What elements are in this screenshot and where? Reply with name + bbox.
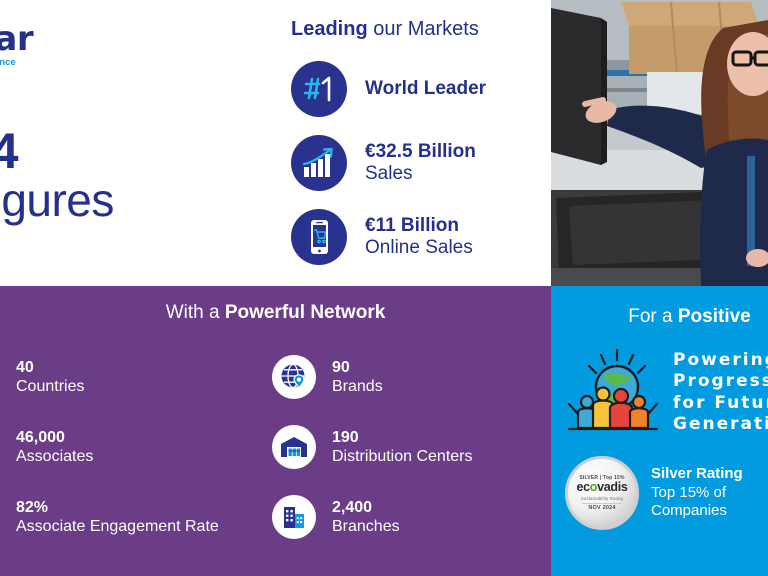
title-year: 24 <box>0 126 224 176</box>
list-item-label: Distribution Centers <box>332 447 473 466</box>
page-title: 24 Figures <box>0 126 224 224</box>
impact-heading-bold: Positive <box>678 306 751 327</box>
medal-brand-o: o <box>590 480 597 494</box>
impact-slogan-line: Progress <box>673 371 768 392</box>
impact-rating-text: Silver Rating Top 15% of Companies <box>651 465 743 521</box>
logo-tagline: d by Difference <box>0 58 148 68</box>
ecovadis-medal-icon: SILVER | Top 15% ecovadis Sustainability… <box>565 456 639 530</box>
rating-subtitle-line2: Companies <box>651 502 743 521</box>
impact-heading-rest: For a <box>628 306 678 327</box>
markets-section: Leading our Markets <box>291 18 541 283</box>
stat-label: Sales <box>365 163 476 185</box>
impact-slogan-line: for Future <box>673 393 768 414</box>
list-item: 2,400 Branches <box>272 482 552 552</box>
network-section: With a Powerful Network 40 Countries <box>0 286 551 576</box>
stat-text: €32.5 Billion Sales <box>365 141 476 185</box>
network-heading-bold: Powerful Network <box>225 302 385 323</box>
list-item-label: Associate Engagement Rate <box>16 517 219 536</box>
medal-divider <box>582 503 622 504</box>
stat-value: World Leader <box>365 78 486 100</box>
list-item: 190 Distribution Centers <box>272 412 552 482</box>
medal-brand-b: vadis <box>597 480 627 494</box>
impact-section: For a Positive <box>551 286 768 576</box>
earth-people-icon <box>565 344 661 441</box>
markets-heading: Leading our Markets <box>291 18 541 41</box>
stat-label: Online Sales <box>365 237 473 259</box>
list-item-value: 2,400 <box>332 498 400 517</box>
markets-heading-rest: our Markets <box>368 18 479 40</box>
globe-pin-icon <box>272 355 316 399</box>
network-heading: With a Powerful Network <box>0 302 551 324</box>
stat-value: €32.5 Billion <box>365 141 476 163</box>
list-item-value: 46,000 <box>16 428 93 447</box>
stat-row: World Leader <box>291 61 541 117</box>
number-one-icon <box>291 61 347 117</box>
medal-subtitle: Sustainability Rating <box>581 496 623 501</box>
list-item: 82% Associate Engagement Rate <box>0 482 236 552</box>
list-item-label: Branches <box>332 517 400 536</box>
company-logo: epar d by Difference <box>0 22 148 68</box>
medal-date: NOV 2024 <box>588 505 615 511</box>
list-item-value: 40 <box>16 358 84 377</box>
medal-brand-a: ec <box>576 480 589 494</box>
title-subtitle: Figures <box>0 176 224 224</box>
list-item-text: 46,000 Associates <box>16 428 93 466</box>
list-item-label: Countries <box>16 377 84 396</box>
stat-text: €11 Billion Online Sales <box>365 215 473 259</box>
buildings-icon <box>272 495 316 539</box>
logo-wordmark: epar <box>0 22 148 56</box>
impact-slogan: Powering Progress for Future Generations <box>673 350 768 435</box>
list-item-text: 190 Distribution Centers <box>332 428 473 466</box>
list-item-text: 40 Countries <box>16 358 84 396</box>
network-left-column: 40 Countries 46,000 Associates <box>0 342 236 552</box>
logo-tagline-post: Difference <box>0 57 16 68</box>
list-item-value: 90 <box>332 358 383 377</box>
list-item-text: 90 Brands <box>332 358 383 396</box>
impact-slogan-row: Powering Progress for Future Generations <box>565 344 768 441</box>
stat-value: €11 Billion <box>365 215 473 237</box>
top-white-band: epar d by Difference 24 Figures Leading … <box>0 0 768 286</box>
impact-slogan-line: Generations <box>673 414 768 435</box>
list-item-text: 82% Associate Engagement Rate <box>16 498 219 536</box>
stat-row: €11 Billion Online Sales <box>291 209 541 265</box>
list-item: 40 Countries <box>0 342 236 412</box>
stat-text: World Leader <box>365 78 486 100</box>
network-heading-rest: With a <box>166 302 225 323</box>
impact-slogan-line: Powering <box>673 350 768 371</box>
list-item-text: 2,400 Branches <box>332 498 400 536</box>
list-item-value: 82% <box>16 498 219 517</box>
warehouse-icon <box>272 425 316 469</box>
rating-title: Silver Rating <box>651 465 743 484</box>
impact-rating-row: SILVER | Top 15% ecovadis Sustainability… <box>565 456 743 530</box>
impact-heading: For a Positive <box>551 306 768 328</box>
list-item-label: Brands <box>332 377 383 396</box>
rating-subtitle-line1: Top 15% of <box>651 484 743 503</box>
infographic-slide: epar d by Difference 24 Figures Leading … <box>0 0 768 576</box>
mobile-cart-icon <box>291 209 347 265</box>
markets-heading-bold: Leading <box>291 18 368 40</box>
growth-chart-icon <box>291 135 347 191</box>
warehouse-photo <box>551 0 768 286</box>
list-item: 90 Brands <box>272 342 552 412</box>
medal-brand: ecovadis <box>576 481 627 495</box>
list-item-label: Associates <box>16 447 93 466</box>
stat-row: €32.5 Billion Sales <box>291 135 541 191</box>
list-item-value: 190 <box>332 428 473 447</box>
network-right-column: 90 Brands <box>272 342 552 552</box>
list-item: 46,000 Associates <box>0 412 236 482</box>
